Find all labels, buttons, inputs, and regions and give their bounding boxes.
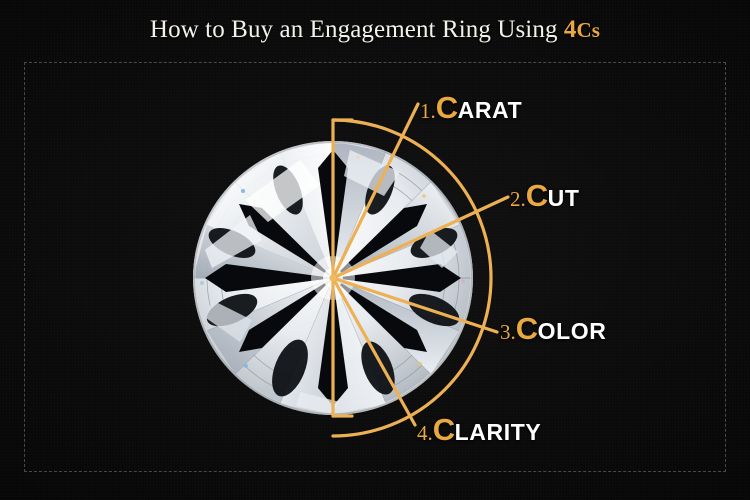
page-title-main: How to Buy an Engagement Ring Using [150,16,564,43]
page-title-accent: 4Cs [564,16,600,43]
callout-clarity-index: 4. [417,421,433,445]
callout-cut-index: 2. [510,187,526,211]
callout-color-rest: OLOR [538,318,607,344]
title-bar: How to Buy an Engagement Ring Using 4Cs [0,0,750,60]
callout-color-cap: C [516,311,538,346]
callout-carat-index: 1. [420,99,436,123]
page-title: How to Buy an Engagement Ring Using 4Cs [150,16,600,44]
diamond-illustration [0,0,750,500]
callout-cut[interactable]: 2.CUT [510,180,580,211]
callout-color-index: 3. [500,320,516,344]
callout-color[interactable]: 3.COLOR [500,313,606,344]
callout-cut-rest: UT [548,185,580,211]
callout-cut-cap: C [526,178,548,213]
callout-carat-rest: ARAT [458,97,523,123]
page-title-accent-suffix: Cs [577,18,601,42]
callout-clarity-cap: C [433,412,455,447]
callout-clarity-rest: LARITY [455,419,542,445]
callout-clarity[interactable]: 4.CLARITY [417,414,541,445]
leader-origin-node [329,274,336,281]
infographic-canvas: How to Buy an Engagement Ring Using 4Cs [0,0,750,500]
diamond-diagram-stage [0,0,750,500]
page-title-accent-number: 4 [564,16,577,43]
callout-carat-cap: C [436,90,458,125]
callout-carat[interactable]: 1.CARAT [420,92,522,123]
